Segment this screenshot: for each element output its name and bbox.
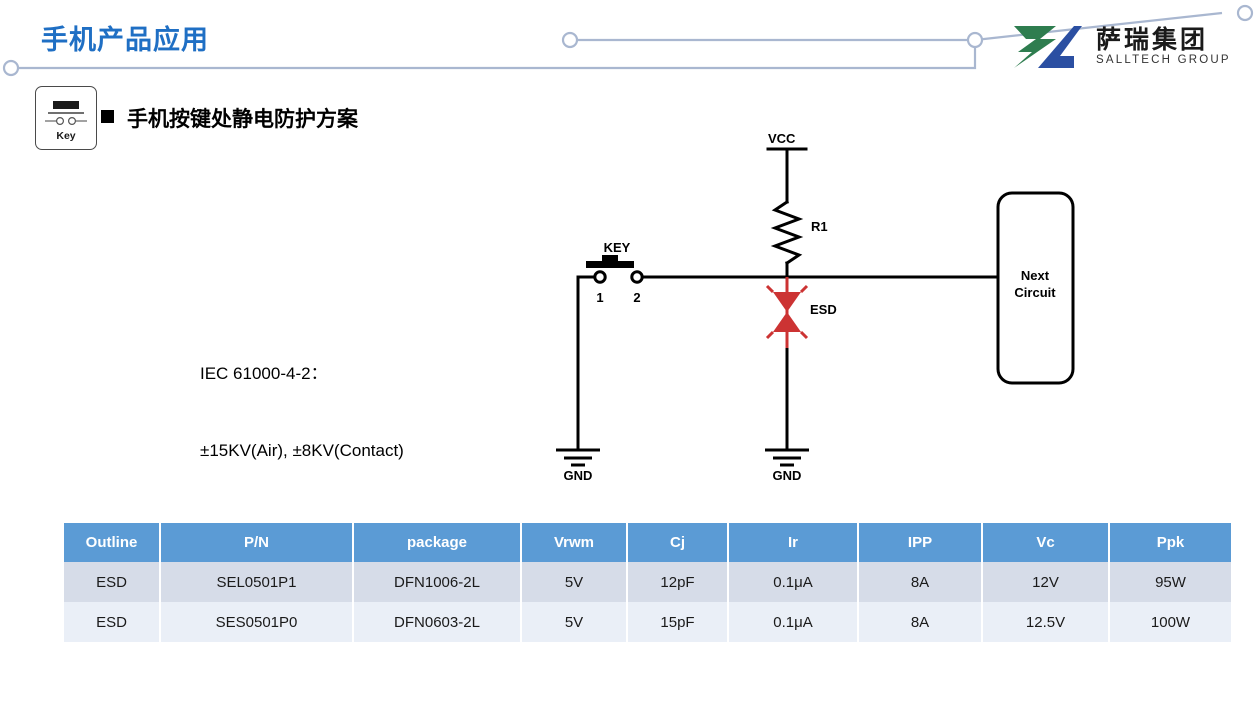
- table-row: ESD SEL0501P1 DFN1006-2L 5V 12pF 0.1μA 8…: [64, 562, 1231, 602]
- gnd-right-symbol: [765, 450, 809, 465]
- key-actuator-bar: [586, 261, 634, 268]
- key-switch-icon: Key: [35, 86, 97, 150]
- esd-label: ESD: [810, 302, 837, 317]
- resistor-r1-symbol: [775, 202, 799, 263]
- cell-pn: SEL0501P1: [160, 562, 353, 602]
- cell-vc: 12V: [982, 562, 1109, 602]
- cell-vc: 12.5V: [982, 602, 1109, 642]
- key-contact-right: [69, 118, 76, 125]
- col-header-vc: Vc: [982, 523, 1109, 562]
- cell-cj: 12pF: [627, 562, 728, 602]
- decor-node-left: [4, 61, 18, 75]
- circuit-schematic: VCC R1 KEY 1 2 ESD GND GND Next Circuit: [520, 120, 1140, 490]
- resistor-label: R1: [811, 219, 828, 234]
- next-circuit-line1: Next: [1021, 268, 1050, 283]
- logo-text: 萨瑞集团 SALLTECH GROUP: [1096, 27, 1231, 67]
- key-cap-shape: [53, 101, 79, 109]
- cell-ir: 0.1μA: [728, 602, 858, 642]
- table-row: ESD SES0501P0 DFN0603-2L 5V 15pF 0.1μA 8…: [64, 602, 1231, 642]
- cell-ppk: 95W: [1109, 562, 1231, 602]
- page-title: 手机产品应用: [41, 18, 209, 57]
- esd-diode-symbol: [767, 277, 807, 348]
- vcc-label: VCC: [768, 131, 796, 146]
- cell-pn: SES0501P0: [160, 602, 353, 642]
- table-header-row: Outline P/N package Vrwm Cj Ir IPP Vc Pp…: [64, 523, 1231, 562]
- cell-package: DFN0603-2L: [353, 602, 521, 642]
- cell-ppk: 100W: [1109, 602, 1231, 642]
- section-title: 手机按键处静电防护方案: [127, 103, 358, 133]
- key-terminal-2: [632, 272, 642, 282]
- cell-cj: 15pF: [627, 602, 728, 642]
- key-actuator-bump: [602, 255, 618, 261]
- iec-spec-line2: ±15KV(Air), ±8KV(Contact): [200, 438, 404, 464]
- logo-name-cn: 萨瑞集团: [1096, 27, 1231, 53]
- col-header-cj: Cj: [627, 523, 728, 562]
- gnd-right-label: GND: [773, 468, 802, 483]
- gnd-left-label: GND: [564, 468, 593, 483]
- brand-logo: 萨瑞集团 SALLTECH GROUP: [1012, 18, 1252, 76]
- col-header-vrwm: Vrwm: [521, 523, 627, 562]
- key-contact-left: [57, 118, 64, 125]
- key-label: KEY: [604, 240, 631, 255]
- iec-spec-line1: IEC 61000-4-2：: [200, 361, 404, 387]
- gnd-left-symbol: [556, 450, 600, 465]
- esd-triangle-lower: [773, 312, 801, 332]
- col-header-ipp: IPP: [858, 523, 982, 562]
- iec-spec-note: IEC 61000-4-2： ±15KV(Air), ±8KV(Contact): [200, 310, 404, 514]
- spec-table: Outline P/N package Vrwm Cj Ir IPP Vc Pp…: [64, 523, 1231, 642]
- cell-outline: ESD: [64, 602, 160, 642]
- col-header-ppk: Ppk: [1109, 523, 1231, 562]
- col-header-outline: Outline: [64, 523, 160, 562]
- cell-outline: ESD: [64, 562, 160, 602]
- logo-name-en: SALLTECH GROUP: [1096, 54, 1231, 67]
- key-pin1-label: 1: [596, 290, 603, 305]
- col-header-package: package: [353, 523, 521, 562]
- next-circuit-line2: Circuit: [1014, 285, 1056, 300]
- col-header-ir: Ir: [728, 523, 858, 562]
- decor-node-junction: [968, 33, 982, 47]
- cell-ipp: 8A: [858, 602, 982, 642]
- decor-node-mid: [563, 33, 577, 47]
- key-icon-label: Key: [56, 130, 75, 142]
- cell-package: DFN1006-2L: [353, 562, 521, 602]
- key-switch-glyph: Key: [36, 87, 96, 149]
- key-switch-symbol: [586, 255, 642, 282]
- col-header-pn: P/N: [160, 523, 353, 562]
- section-bullet-marker: [101, 110, 114, 123]
- logo-mark-icon: [1012, 22, 1088, 72]
- esd-triangle-upper: [773, 292, 801, 312]
- key-pin2-label: 2: [633, 290, 640, 305]
- key-terminal-1: [595, 272, 605, 282]
- slide-root: 手机产品应用 萨瑞集团 SALLTECH GROUP Key 手机按键处静电防护…: [0, 0, 1257, 706]
- cell-ipp: 8A: [858, 562, 982, 602]
- cell-vrwm: 5V: [521, 562, 627, 602]
- cell-ir: 0.1μA: [728, 562, 858, 602]
- cell-vrwm: 5V: [521, 602, 627, 642]
